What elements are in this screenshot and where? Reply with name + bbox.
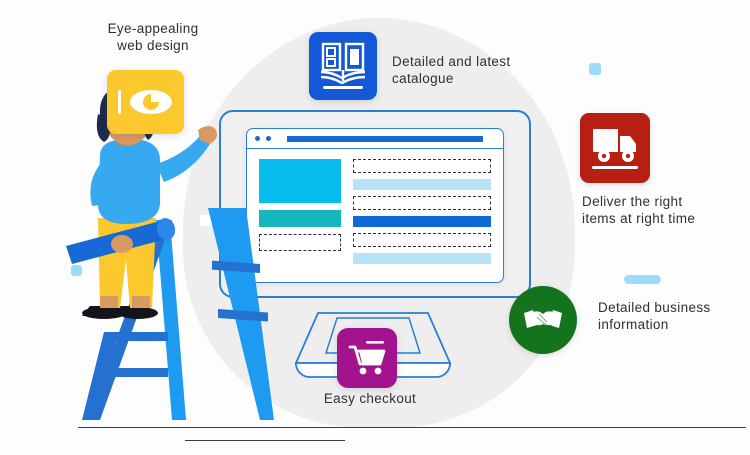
label-detailed-business-information: Detailed business information [598, 300, 748, 333]
cart-icon-tile[interactable] [337, 328, 397, 388]
text-line-pale-1 [353, 179, 491, 190]
eye-icon [116, 85, 176, 119]
step-ladder-back [208, 208, 274, 420]
text-line-blue [353, 216, 491, 227]
eye-icon-tile[interactable] [107, 70, 184, 134]
truck-icon-tile[interactable] [580, 113, 650, 183]
delivery-truck-icon [588, 121, 642, 175]
content-right-column [353, 159, 491, 264]
ground-line [78, 427, 746, 428]
label-detailed-and-latest-catalogue: Detailed and latest catalogue [392, 54, 552, 87]
infographic-canvas: Eye-appealing web design Detailed and la… [0, 0, 750, 455]
accent-line [185, 440, 345, 441]
shopping-cart-icon [346, 338, 388, 378]
chip-right-icon [589, 63, 601, 75]
label-easy-checkout: Easy checkout [300, 391, 440, 408]
catalogue-icon-tile[interactable] [309, 32, 377, 100]
label-eye-appealing-web-design: Eye-appealing web design [88, 21, 218, 54]
pill-icon [624, 275, 661, 284]
open-book-icon [318, 40, 368, 92]
label-deliver-the-right-items-at-right-time: Deliver the right items at right time [582, 194, 747, 227]
text-line-dashed-3 [353, 233, 491, 247]
text-line-dashed-2 [353, 196, 491, 210]
address-bar[interactable] [287, 136, 483, 142]
character-illustration [60, 120, 295, 432]
text-line-pale-2 [353, 253, 491, 264]
text-line-dashed-1 [353, 159, 491, 173]
handshake-icon-circle[interactable] [509, 286, 577, 354]
handshake-icon [523, 305, 563, 335]
